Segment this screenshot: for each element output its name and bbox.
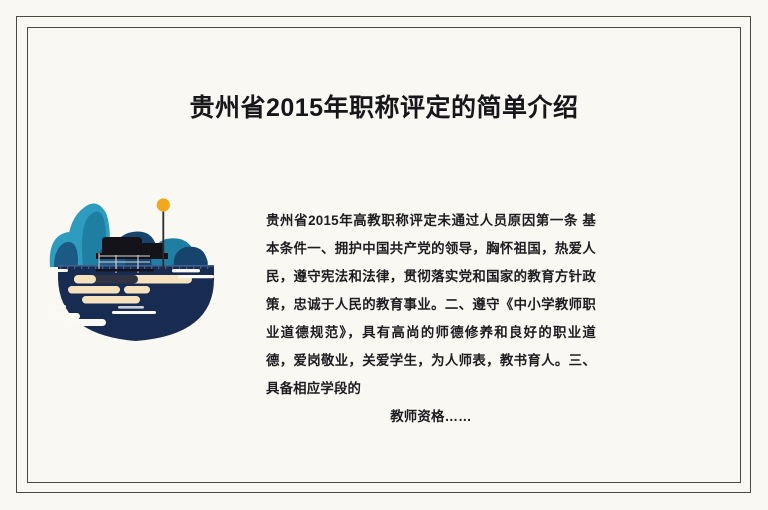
cloud-white-left-4 — [66, 319, 106, 326]
cloud-white-left-2 — [46, 305, 66, 308]
cloud-cream-2b — [148, 275, 176, 284]
cloud-white-left-3 — [48, 313, 80, 320]
cloud-cream-3 — [68, 286, 120, 294]
cloud-white-right-1 — [172, 269, 200, 272]
page-title: 贵州省2015年职称评定的简单介绍 — [0, 93, 768, 123]
illustration-svg — [46, 183, 226, 368]
cloud-gray-center — [118, 306, 144, 309]
cloud-cream-1b — [74, 275, 96, 284]
cloud-white-center-1 — [112, 311, 156, 314]
lamp-post — [162, 209, 164, 271]
cloud-cream-4 — [124, 286, 150, 294]
lamp-light-icon — [157, 198, 170, 211]
cloud-white-right-2 — [178, 275, 214, 278]
article-body-main: 贵州省2015年高教职称评定未通过人员原因第一条 基本条件一、拥护中国共产党的领… — [266, 213, 596, 396]
bench-seat — [96, 269, 154, 271]
cloud-cream-5 — [82, 296, 140, 304]
cloud-white-left-1 — [46, 269, 68, 272]
article-page: 贵州省2015年职称评定的简单介绍 — [0, 0, 768, 510]
night-city-park-illustration — [46, 183, 226, 368]
article-body-tail: 教师资格…… — [266, 403, 596, 431]
building-left-block — [102, 237, 142, 255]
article-body: 贵州省2015年高教职称评定未通过人员原因第一条 基本条件一、拥护中国共产党的领… — [266, 207, 596, 431]
